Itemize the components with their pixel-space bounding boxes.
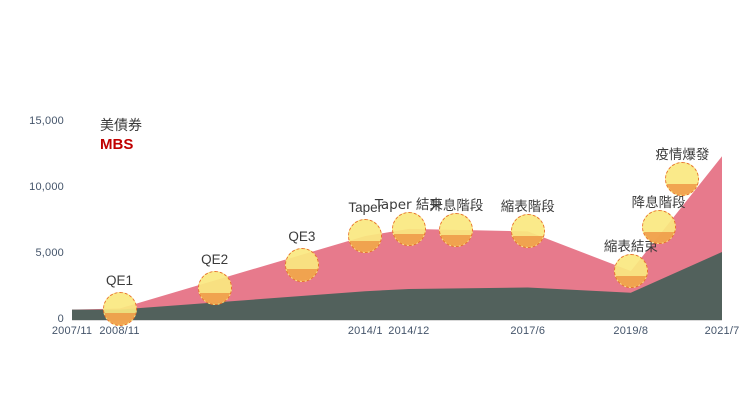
x-axis-tick: 2014/1 [348,325,383,337]
y-axis-tick: 10,000 [10,181,64,193]
chart-container: 05,00010,00015,000 2007/112008/112014/12… [0,0,740,416]
annotation-label: 升息階段 [429,194,483,214]
x-axis-tick: 2017/6 [510,325,545,337]
annotation-label: QE1 [106,273,133,288]
annotation-label: QE2 [201,252,228,267]
annotation-marker-fill [642,232,676,244]
annotation-marker [665,162,699,196]
annotation-marker [614,254,648,288]
annotation-marker-fill [511,236,545,248]
annotation-marker [348,219,382,253]
annotation-marker-fill [285,269,319,281]
legend-item-mbs: MBS [100,136,142,155]
annotation-marker-fill [614,276,648,288]
annotation-marker [642,210,676,244]
x-axis-tick: 2021/7 [705,325,740,337]
annotation-marker [285,248,319,282]
legend: 美債券 MBS [100,118,142,154]
y-axis-tick: 0 [10,313,64,325]
annotation-label: 縮表階段 [501,195,555,215]
annotation-marker [392,212,426,246]
x-axis-tick: 2019/8 [613,325,648,337]
annotation-marker-fill [348,241,382,253]
annotation-marker-fill [198,293,232,305]
x-axis-tick: 2014/12 [388,325,429,337]
y-axis-tick: 5,000 [10,247,64,259]
annotation-label: 疫情爆發 [655,143,709,163]
annotation-marker [439,213,473,247]
x-axis-tick: 2008/11 [99,325,139,337]
legend-item-bonds: 美債券 [100,118,142,136]
annotation-marker-fill [392,234,426,246]
annotation-marker [103,292,137,326]
annotation-marker [198,271,232,305]
annotation-marker-fill [665,184,699,196]
annotation-marker-fill [439,235,473,247]
annotation-marker [511,214,545,248]
annotation-marker-fill [103,313,137,325]
y-axis-tick: 15,000 [10,115,64,127]
x-axis-tick: 2007/11 [52,325,92,337]
annotation-label: QE3 [288,229,315,244]
